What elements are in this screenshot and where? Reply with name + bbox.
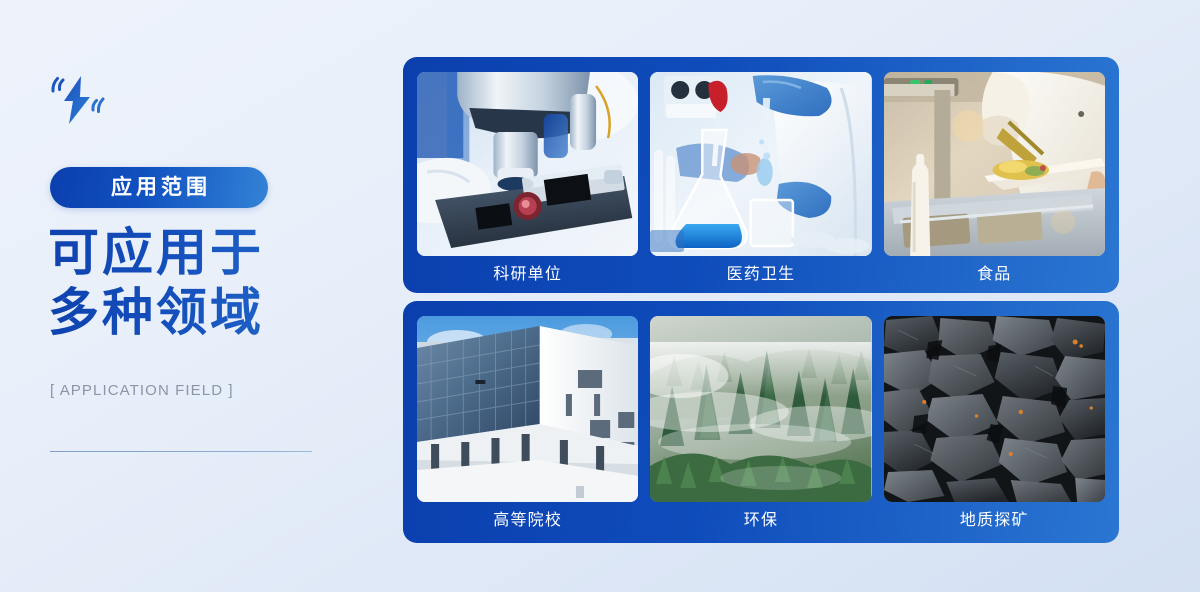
laboratory-glassware-photo [650, 72, 871, 256]
field-panel-row-2: 高等院校 [403, 301, 1119, 543]
misty-forest-photo [650, 316, 871, 502]
headline-line-2: 多种领域 [48, 283, 378, 343]
coal-rocks-photo [884, 316, 1105, 502]
headline-line-1: 可应用于 [48, 223, 378, 283]
lightning-signal-icon [50, 74, 106, 126]
field-card-label: 科研单位 [493, 267, 562, 283]
page-title: 可应用于 多种领域 [48, 223, 378, 343]
field-card-label: 高等院校 [493, 513, 562, 529]
field-panel-row-1: 科研单位 [403, 57, 1119, 293]
field-card-label: 医药卫生 [727, 267, 796, 283]
field-card-label: 食品 [977, 267, 1011, 283]
field-card-label: 地质探矿 [960, 513, 1029, 529]
field-card-university[interactable]: 高等院校 [417, 316, 638, 543]
application-field-banner: 应用范围 可应用于 多种领域 [ APPLICATION FIELD ] [0, 0, 1200, 592]
headline-subtitle-en: [ APPLICATION FIELD ] [50, 382, 234, 399]
field-card-medical[interactable]: 医药卫生 [650, 72, 871, 293]
chef-serving-food-photo [884, 72, 1105, 256]
hero-divider [50, 451, 312, 452]
field-card-geology[interactable]: 地质探矿 [884, 316, 1105, 543]
hero-left-column: 应用范围 可应用于 多种领域 [ APPLICATION FIELD ] [0, 0, 400, 592]
microscope-photo [417, 72, 638, 256]
field-card-row: 高等院校 [417, 316, 1105, 543]
section-badge-label: 应用范围 [107, 177, 211, 198]
field-card-environment[interactable]: 环保 [650, 316, 871, 543]
section-badge: 应用范围 [50, 167, 268, 208]
university-building-photo [417, 316, 638, 502]
field-card-row: 科研单位 [417, 72, 1105, 293]
field-card-food[interactable]: 食品 [884, 72, 1105, 293]
field-card-research[interactable]: 科研单位 [417, 72, 638, 293]
field-card-label: 环保 [744, 513, 778, 529]
